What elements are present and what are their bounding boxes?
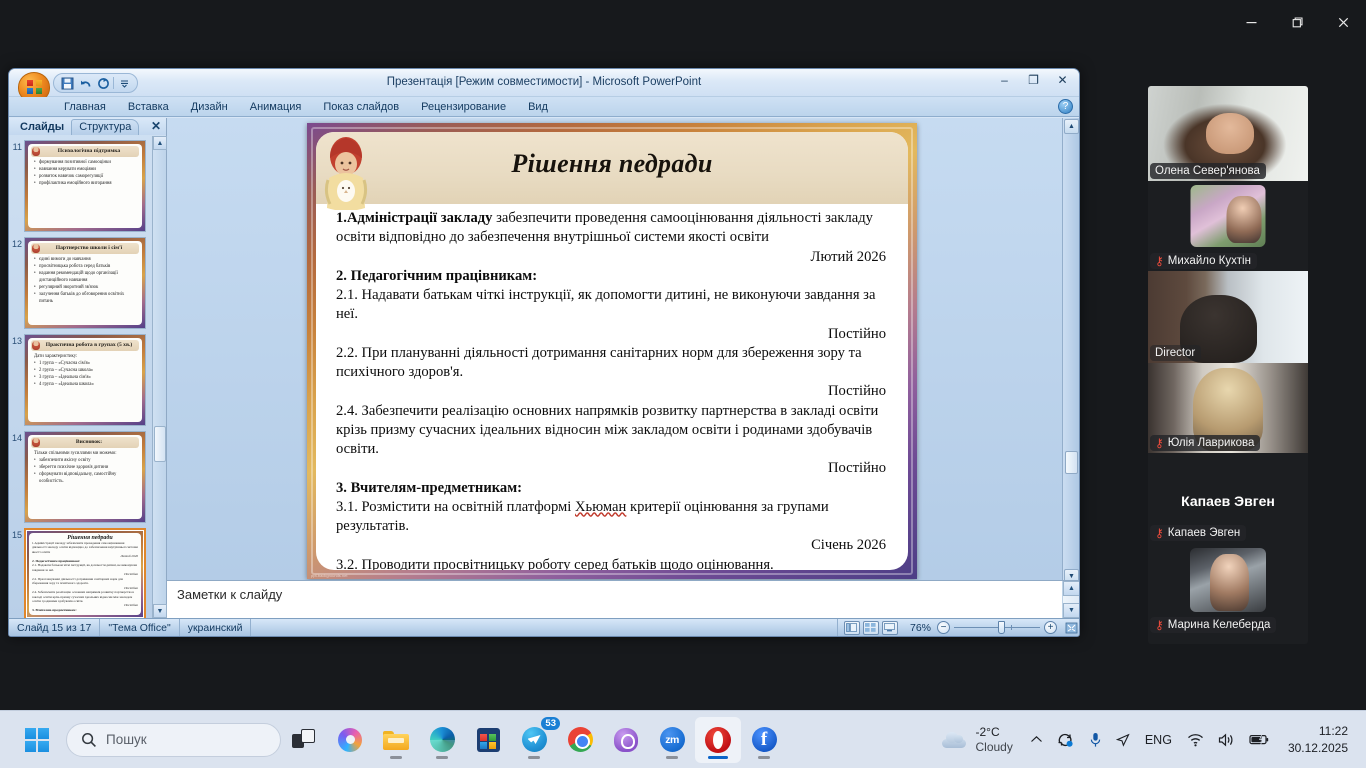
weather-widget[interactable]: -2°C Cloudy [931,722,1022,757]
facebook-icon: f [752,727,777,752]
participant-tile[interactable]: ⚷ Марина Келеберда [1148,543,1308,635]
microphone-muted-icon: ⚷ [1155,255,1164,267]
microsoft-store-button[interactable] [465,717,511,763]
thumb-bullet: формування позитивної самооцінки [34,159,137,166]
microphone-muted-icon: ⚷ [1155,437,1164,449]
slide-thumbnail[interactable]: Психологічна підтримка формування позити… [24,140,146,232]
language-indicator[interactable]: украинский [180,619,252,637]
thumb-lead: Тільки спільними зусиллями ми можемо: [34,450,137,457]
thumb-bullet: просвітницька робота серед батьків [34,263,137,270]
slide-thumbnail-item[interactable]: 14 Висновок: Тільки спільними зусиллями … [11,431,150,523]
ppt-close-button[interactable]: ✕ [1048,70,1077,90]
participant-name: Олена Север'янова [1155,165,1260,177]
slide-paragraph: 2.4. Забезпечити реалізацію основних нап… [336,402,886,460]
participant-tile[interactable]: Олена Север'янова [1148,86,1308,181]
normal-view-button[interactable] [844,621,860,635]
slide-title-band: Рішення педради [316,132,908,204]
thumb-bullet: єдині вимоги до навчання [34,256,137,263]
thumb-bullet: 4 група – «Ідеальна школа» [34,381,137,388]
viber-button[interactable] [603,717,649,763]
status-spacer [251,619,838,637]
zoom-center-tick [1011,625,1012,630]
file-explorer-button[interactable] [373,717,419,763]
redo-icon[interactable] [95,75,111,91]
doll-image-icon [32,244,40,253]
slide-editing-area[interactable]: Рішення педради 1.Адміністрації закладу … [167,118,1079,618]
powerpoint-window-title: Презентація [Режим совместимости] - Micr… [9,76,1079,88]
wifi-icon [1187,733,1204,747]
doll-image-icon [32,341,40,350]
thumb-bullet: навчання керувати емоціями [34,166,137,173]
slide-deadline: Лютий 2026 [336,248,886,267]
thumb-title: Практична робота в групах (5 хв.) [31,340,139,351]
powerpoint-window-controls: – ❐ ✕ [990,70,1077,90]
slide-thumbnail-list[interactable]: 11 Психологічна підтримка формування поз… [9,136,152,618]
clock-date: 30.12.2025 [1288,740,1348,756]
onedrive-icon [1057,732,1075,748]
slide-paragraph: 2.2. При плануванні діяльності дотриманн… [336,344,886,383]
participant-name-badge: ⚷ Капаев Эвген [1150,525,1246,542]
thumb-title: Висновок: [31,437,139,448]
copilot-icon [338,728,362,752]
thumb-bullet: 2 група – «Сучасна школа» [34,367,137,374]
battery-icon [1249,733,1269,746]
pane-tab-bar: Слайды Структура ✕ [9,118,166,135]
thumb-bullet: 1 група – «Сучасна сім'я» [34,360,137,367]
clock[interactable]: 11:22 30.12.2025 [1276,720,1356,758]
doll-image-icon [32,438,40,447]
slide-thumbnail-item[interactable]: 12 Партнерство школи і сім'ї єдині вимог… [11,237,150,329]
task-view-button[interactable] [281,717,327,763]
thumb-title: Психологічна підтримка [31,146,139,157]
desktop: Олена Север'янова ⚷ Михайло Кухтін Direc… [0,0,1366,768]
battery-button[interactable] [1242,727,1276,752]
save-icon[interactable] [59,75,75,91]
slide-number: 12 [11,237,24,249]
participant-name: Марина Келеберда [1168,619,1271,631]
thumb-lead: Дати характеристику: [34,353,137,360]
ribbon-tab-bar: Главная Вставка Дизайн Анимация Показ сл… [9,97,1079,117]
task-view-icon [292,729,316,751]
powerpoint-workspace: Слайды Структура ✕ 11 Психологічна підтр… [9,118,1079,618]
zoom-restore-button[interactable] [1274,0,1320,45]
zoom-in-button[interactable]: + [1044,621,1057,634]
zoom-button[interactable]: zm [649,717,695,763]
microphone-button[interactable] [1082,726,1109,754]
thumb-line: 2. Педагогічним працівникам: [32,559,80,563]
thumb-line: 1.Адміністрації закладу забезпечити пров… [32,541,138,554]
powerpoint-status-bar: Слайд 15 из 17 "Тема Office" украинский … [9,618,1079,636]
slide-number: 11 [11,140,24,152]
chrome-icon [568,727,593,752]
ppt-minimize-button[interactable]: – [990,70,1019,90]
slide-thumbnail[interactable]: Практична робота в групах (5 хв.) Дати х… [24,334,146,426]
scrollbar-thumb[interactable] [1065,451,1078,474]
participant-name-badge: Director [1150,345,1201,362]
scroll-up-button[interactable]: ▲ [1064,119,1079,134]
zoom-minimize-button[interactable] [1228,0,1274,45]
thumb-bullet: залучення батьків до обговорення освітні… [34,291,137,305]
edge-icon [430,727,455,752]
ribbon-tab-animation[interactable]: Анимация [239,99,313,116]
slide-thumbnail-item[interactable]: 11 Психологічна підтримка формування поз… [11,140,150,232]
show-hidden-icons-button[interactable] [1023,729,1050,750]
divider [113,77,114,89]
microphone-muted-icon: ⚷ [1155,527,1164,539]
tab-outline[interactable]: Структура [71,119,139,135]
zoom-level-label[interactable]: 76% [904,622,937,634]
thumb-bullet: профілактика емоційного вигорання [34,180,137,187]
slide-thumbnail[interactable]: Партнерство школи і сім'ї єдині вимоги д… [24,237,146,329]
chrome-button[interactable] [557,717,603,763]
thumb-bullets: Тільки спільними зусиллями ми можемо: за… [31,448,139,485]
thumb-title: Партнерство школи і сім'ї [31,243,139,254]
powerpoint-window: Презентація [Режим совместимости] - Micr… [8,68,1080,637]
slides-outline-pane: Слайды Структура ✕ 11 Психологічна підтр… [9,118,167,618]
slide-thumbnail-item-selected[interactable]: 15 Рішення педради 1.Адміністрації закла… [11,528,150,618]
slide-thumbnail-item[interactable]: 13 Практична робота в групах (5 хв.) Дат… [11,334,150,426]
start-button[interactable] [14,717,60,763]
doll-image-icon [32,147,40,156]
zoom-out-button[interactable]: − [937,621,950,634]
background-credit-text: ppt-backgrounds.net [311,573,347,578]
participant-video [1190,548,1266,612]
language-indicator[interactable]: ENG [1137,727,1180,753]
thumb-bullet: регулярний зворотний зв'язок [34,284,137,291]
scroll-up-button[interactable]: ▲ [1063,581,1080,596]
cloud-icon [941,731,967,748]
facebook-button[interactable]: f [741,717,787,763]
thumb-line: 2.4. Забезпечити реалізацію основних нап… [32,590,138,603]
participant-tile[interactable]: ⚷ Юлія Лаврикова [1148,363,1308,453]
notes-scrollbar[interactable]: ▲ ▼ [1062,581,1079,618]
thumb-bullet: надання рекомендацій щодо організації ди… [34,270,137,284]
zoom-slider[interactable]: − + [937,621,1057,634]
slide-body-text[interactable]: 1.Адміністрації закладу забезпечити пров… [316,204,908,570]
thumb-bullet: зберегти психічне здоров'я дитини [34,464,137,471]
onedrive-sync-button[interactable] [1050,726,1082,754]
thumb-bullet: розвиток навичок саморегуляції [34,173,137,180]
zoom-close-button[interactable] [1320,0,1366,45]
participant-name: Юлія Лаврикова [1168,437,1255,449]
telegram-button[interactable]: 53 [511,717,557,763]
thumb-line: 2.1. Надавати батькам чіткі інструкції, … [32,563,138,572]
close-pane-icon[interactable]: ✕ [151,119,161,133]
chevron-up-icon [1030,735,1043,744]
thumb-body-text: 1.Адміністрації закладу забезпечити пров… [32,541,138,613]
slides-pane-scrollbar[interactable]: ▲ ▼ [152,136,166,618]
ribbon-tab-design[interactable]: Дизайн [180,99,239,116]
zoom-slider-handle[interactable] [998,621,1005,634]
thumb-line: 3. Вчителям-предметникам: [32,608,77,612]
thumb-bullet: сформувати відповідальну, самостійну осо… [34,471,137,485]
weather-condition: Cloudy [975,740,1012,754]
edge-button[interactable] [419,717,465,763]
slide-deadline: Постійно [336,382,886,401]
search-icon [81,732,97,748]
notes-pane[interactable]: Заметки к слайду ▲ ▼ [167,580,1079,618]
ribbon-tab-slideshow[interactable]: Показ слайдов [312,99,410,116]
chevron-down-icon[interactable] [116,75,132,91]
copilot-button[interactable] [327,717,373,763]
slide-number: 13 [11,334,24,346]
microphone-icon [1089,732,1102,748]
notes-placeholder-text[interactable]: Заметки к слайду [167,581,1062,618]
scroll-down-button[interactable]: ▼ [1063,603,1080,618]
network-button[interactable] [1180,727,1211,753]
opera-button[interactable] [695,717,741,763]
participant-name: Director [1155,347,1195,359]
slide-thumbnail[interactable]: Висновок: Тільки спільними зусиллями ми … [24,431,146,523]
ppt-restore-button[interactable]: ❐ [1019,70,1048,90]
slide-paragraph: 3.1. Розмістити на освітній платформі Хь… [336,498,886,537]
participant-tile-active-speaker[interactable]: Director [1148,271,1308,363]
thumb-line: 2.2. При плануванні діяльності дотриманн… [32,577,138,586]
slide-title[interactable]: Рішення педради [316,149,908,179]
tab-slides[interactable]: Слайды [13,120,71,135]
ribbon-tab-insert[interactable]: Вставка [117,99,180,116]
telegram-icon [522,727,547,752]
ribbon-tab-view[interactable]: Вид [517,99,559,116]
slide-counter[interactable]: Слайд 15 из 17 [9,619,100,637]
thumb-bullets: єдині вимоги до навчання просвітницька р… [31,254,139,305]
theme-name[interactable]: "Тема Office" [100,619,179,637]
volume-button[interactable] [1211,727,1242,753]
zoom-window-titlebar [0,0,1366,45]
slide-deadline: Постійно [336,325,886,344]
slideshow-button[interactable] [882,621,898,635]
speaker-icon [1218,733,1235,747]
slide-area-scrollbar[interactable]: ▲ ▼ ⇧ ⇩ [1062,118,1079,618]
powerpoint-titlebar: Презентація [Режим совместимости] - Micr… [9,69,1079,97]
ribbon-tab-home[interactable]: Главная [53,99,117,116]
location-button[interactable] [1109,727,1137,753]
scroll-up-button[interactable]: ▲ [153,136,167,150]
store-icon [477,728,500,752]
slide-paragraph: 2. Педагогічним працівникам: [336,267,886,286]
slide-sorter-button[interactable] [863,621,879,635]
quick-access-toolbar [9,69,138,97]
participant-tile[interactable]: ⚷ Михайло Кухтін [1148,181,1308,271]
slide-thumbnail[interactable]: Рішення педради 1.Адміністрації закладу … [24,528,146,618]
windows-taskbar: Пошук 53 [0,710,1366,768]
slide-deadline: Січень 2026 [336,536,886,555]
thumb-bullet: забезпечити якісну освіту [34,457,137,464]
slide-deadline: Постійно [336,459,886,478]
undo-icon[interactable] [77,75,93,91]
search-placeholder: Пошук [106,732,147,747]
folder-icon [383,729,409,750]
thumb-bullets: Дати характеристику: 1 група – «Сучасна … [31,351,139,388]
slide-paragraph: 2.1. Надавати батькам чіткі інструкції, … [336,286,886,325]
help-icon[interactable]: ? [1058,99,1073,114]
participant-tile[interactable]: Капаев Эвген ⚷ Капаев Эвген [1148,453,1308,543]
weather-temperature: -2°C [975,725,1012,739]
search-input[interactable]: Пошук [66,723,281,757]
participant-video [1191,185,1266,247]
thumb-bullets: формування позитивної самооцінки навчанн… [31,157,139,187]
microphone-muted-icon: ⚷ [1155,619,1164,631]
slide-number: 15 [11,528,24,540]
participant-name-badge: ⚷ Юлія Лаврикова [1150,435,1260,452]
participant-video-strip: Олена Север'янова ⚷ Михайло Кухтін Direc… [1148,86,1308,644]
slide-paragraph: 3. Вчителям-предметникам: [336,479,886,498]
taskbar-left-group: Пошук 53 [0,717,787,763]
participant-name-badge: Олена Север'янова [1150,163,1266,180]
view-switcher [838,621,904,635]
scroll-down-button[interactable]: ▼ [153,604,167,618]
slide-paragraph: 3.2. Проводити просвітницьку роботу сере… [336,556,886,571]
zoom-track[interactable] [954,627,1040,628]
opera-icon [705,727,731,753]
clock-time: 11:22 [1288,723,1348,739]
slide-paragraph: 1.Адміністрації закладу забезпечити пров… [336,209,886,248]
thumb-bullet: 3 група – «Ідеальна сім'я» [34,374,137,381]
participant-name: Михайло Кухтін [1168,255,1251,267]
slide-canvas[interactable]: Рішення педради 1.Адміністрації закладу … [307,123,917,579]
zoom-icon: zm [660,727,685,752]
participant-name: Капаев Эвген [1168,527,1240,539]
ribbon-tab-review[interactable]: Рецензирование [410,99,517,116]
system-tray: -2°C Cloudy [931,720,1366,758]
slide-number: 14 [11,431,24,443]
fit-slide-to-window-button[interactable] [1063,621,1079,635]
participant-name-badge: ⚷ Марина Келеберда [1150,617,1276,634]
windows-logo-icon [25,728,49,752]
viber-icon [614,728,638,752]
slide-content-card[interactable]: Рішення педради 1.Адміністрації закладу … [316,132,908,570]
participant-name-badge: ⚷ Михайло Кухтін [1150,253,1257,270]
spellcheck-flagged-word: Хьюман [575,499,626,515]
participant-display-name: Капаев Эвген [1148,493,1308,509]
scrollbar-thumb[interactable] [154,426,166,462]
location-arrow-icon [1116,733,1130,747]
